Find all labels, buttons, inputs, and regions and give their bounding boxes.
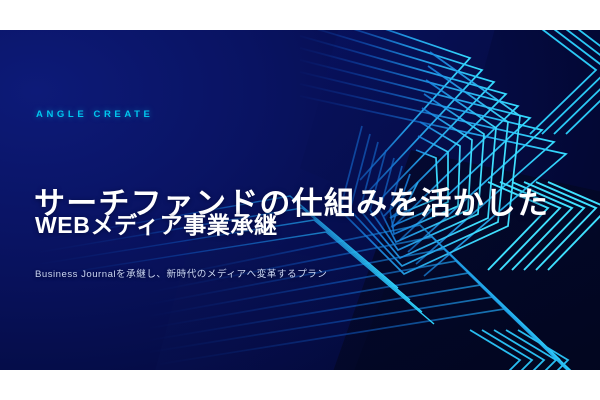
slide-content: ANGLE CREATE サーチファンドの仕組みを活かした WEBメディア事業承… [0, 30, 600, 370]
slide-frame: ANGLE CREATE サーチファンドの仕組みを活かした WEBメディア事業承… [0, 0, 600, 400]
headline-line-2: WEBメディア事業承継 [35, 206, 278, 240]
slide-subtitle: Business Journalを承継し、新時代のメディアへ変革するプラン [35, 266, 327, 280]
letterbox-top [0, 0, 600, 30]
brand-eyebrow: ANGLE CREATE [36, 109, 153, 120]
banner-canvas: ANGLE CREATE サーチファンドの仕組みを活かした WEBメディア事業承… [0, 30, 600, 370]
letterbox-bottom [0, 370, 600, 400]
